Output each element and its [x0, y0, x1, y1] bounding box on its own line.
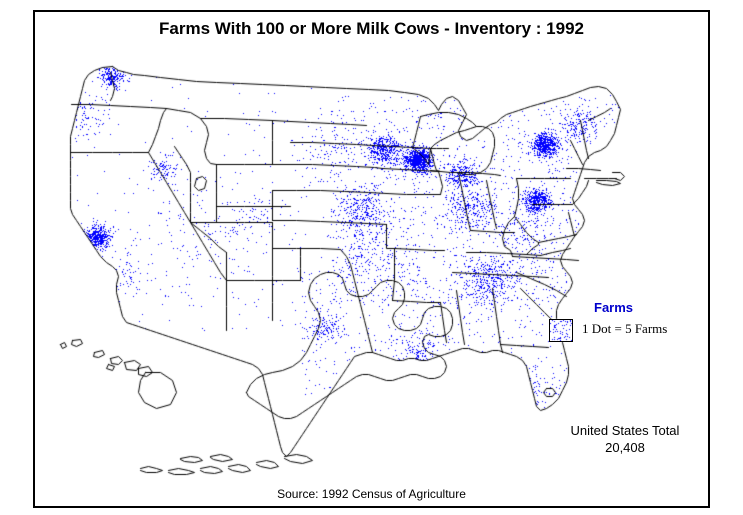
source-note: Source: 1992 Census of Agriculture — [0, 487, 743, 501]
us-total-value: 20,408 — [550, 439, 700, 456]
legend-dot-value-label: 1 Dot = 5 Farms — [582, 321, 667, 337]
map-page: Farms With 100 or More Milk Cows - Inven… — [0, 0, 743, 515]
map-legend: Farms 1 Dot = 5 Farms — [546, 300, 696, 350]
legend-heading: Farms — [594, 300, 633, 315]
dot-density-swatch-icon — [549, 319, 573, 342]
us-total-block: United States Total 20,408 — [550, 422, 700, 456]
us-total-label: United States Total — [550, 422, 700, 439]
